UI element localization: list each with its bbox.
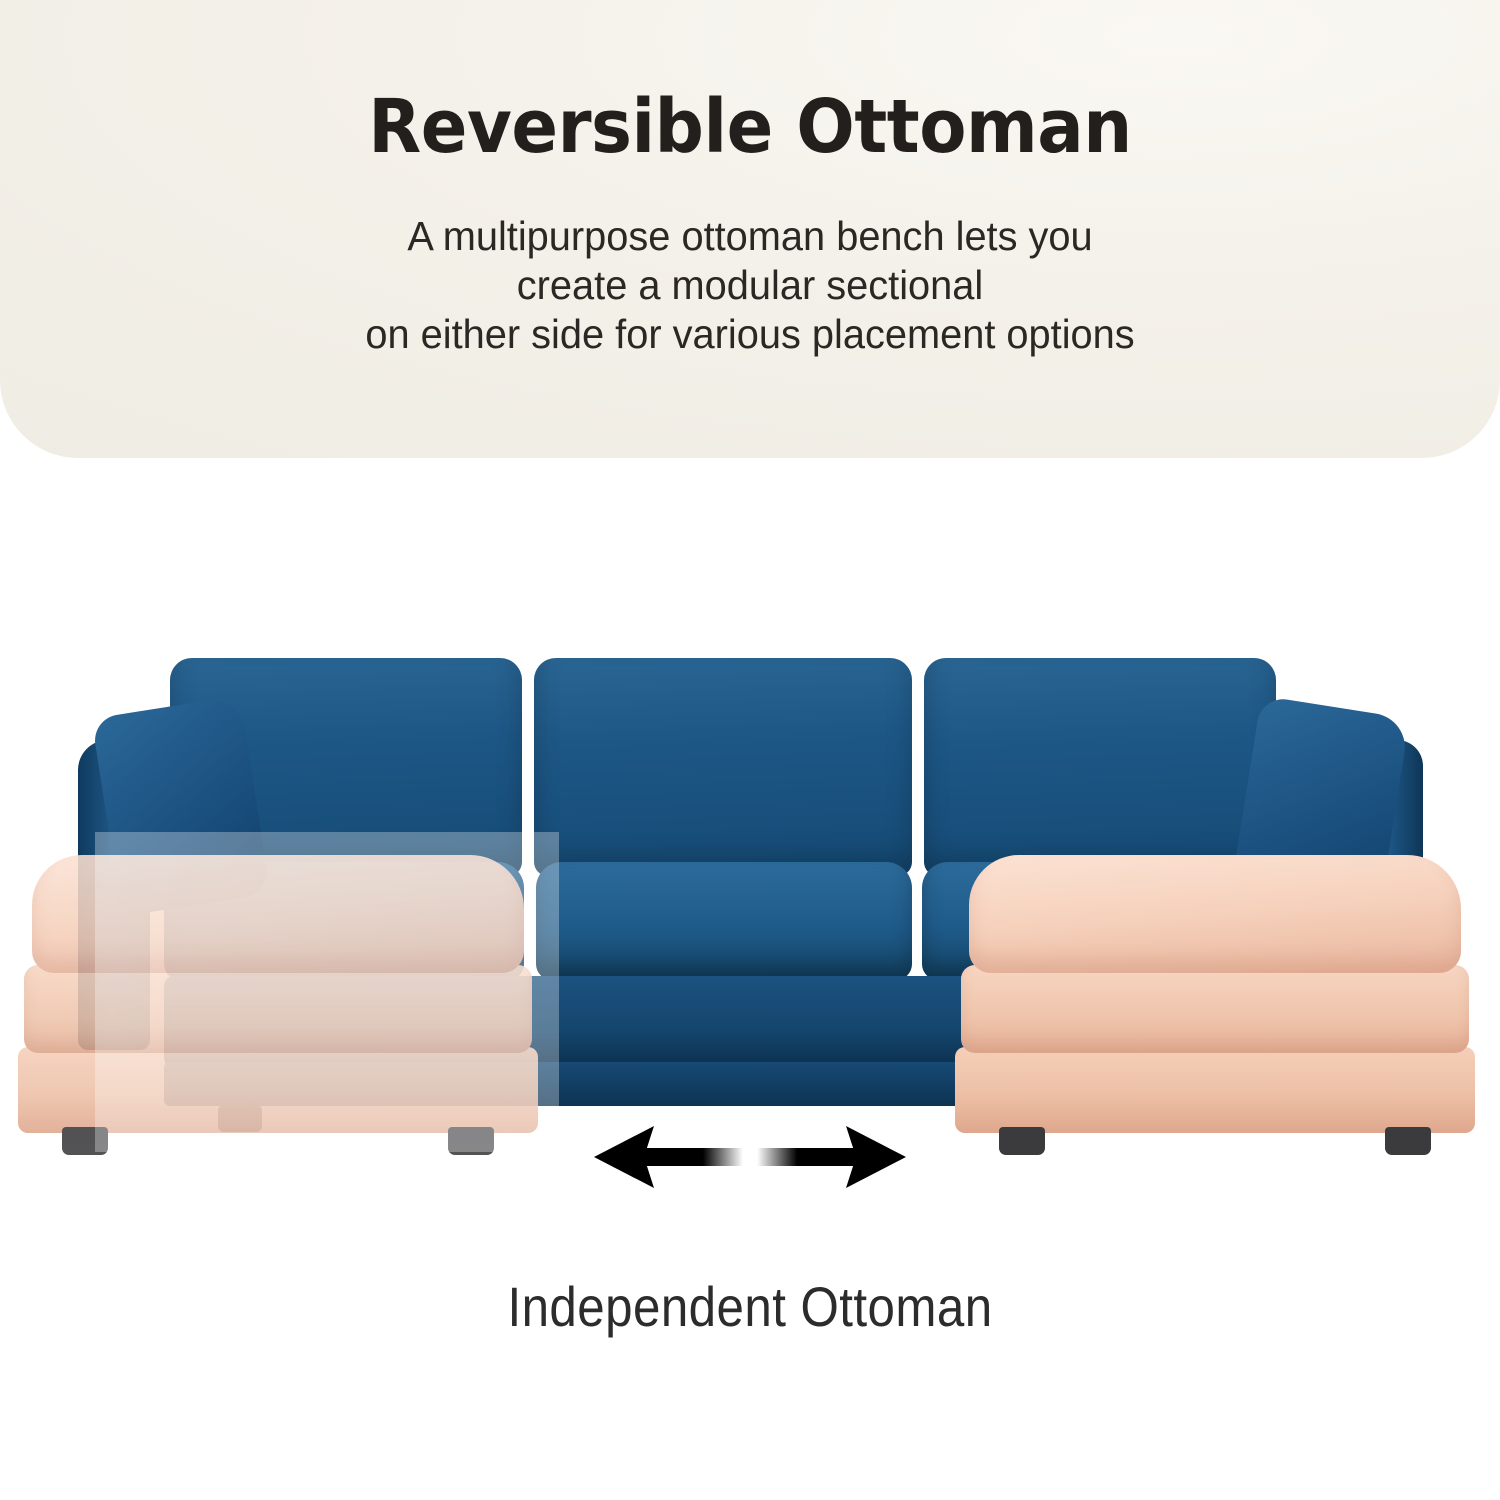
- ottoman-left-foot-left: [62, 1127, 108, 1155]
- ottoman-left-foot-right: [448, 1127, 494, 1155]
- image-caption: Independent Ottoman: [90, 1274, 1410, 1339]
- ottoman-right-mid-band: [961, 965, 1469, 1053]
- header-panel: Reversible Ottoman A multipurpose ottoma…: [0, 0, 1500, 458]
- ottoman-left-mid-band: [24, 965, 532, 1053]
- ottoman-left-base: [18, 1047, 538, 1133]
- ottoman-left-cushion: [32, 855, 524, 973]
- subtitle-line-2: create a modular sectional: [23, 261, 1478, 310]
- subtitle-line-3: on either side for various placement opt…: [23, 310, 1478, 359]
- ottoman-right-foot-right: [1385, 1127, 1431, 1155]
- page-title: Reversible Ottoman: [53, 84, 1448, 170]
- ottoman-right-base: [955, 1047, 1475, 1133]
- sofa-seat-cushion-2: [536, 862, 912, 980]
- subtitle-line-1: A multipurpose ottoman bench lets you: [23, 212, 1478, 261]
- ottoman-right-cushion: [969, 855, 1461, 973]
- product-image: [0, 600, 1500, 1240]
- ottoman-right-foot-left: [999, 1127, 1045, 1155]
- page-subtitle: A multipurpose ottoman bench lets you cr…: [23, 212, 1478, 359]
- ottoman-left: [18, 855, 538, 1155]
- reposition-arrow-icon: [592, 1112, 908, 1202]
- ottoman-right: [955, 855, 1475, 1155]
- sofa-back-cushion-3: [924, 658, 1276, 876]
- sofa-back-cushion-2: [534, 658, 912, 876]
